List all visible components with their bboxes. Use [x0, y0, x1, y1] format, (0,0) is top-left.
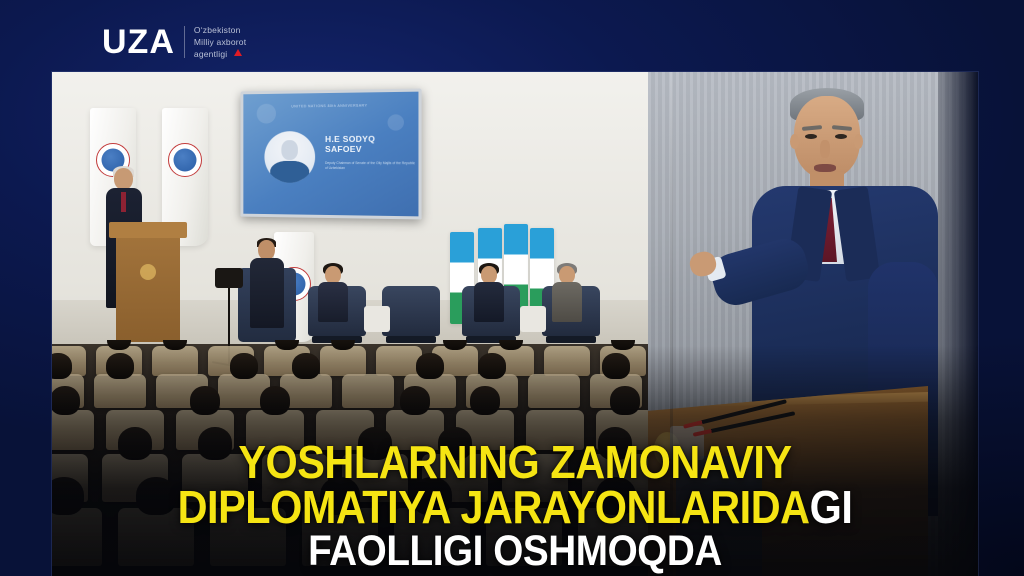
panelist — [318, 266, 348, 320]
seated-guest — [248, 240, 286, 332]
headline-line-1: YOSHLARNING ZAMONAVIY — [124, 440, 907, 484]
uza-logo[interactable]: UZA O‘zbekiston Milliy axborot agentligi — [102, 24, 246, 60]
uza-wordmark: UZA — [102, 25, 175, 59]
news-photo: UNITED NATIONS 80th ANNIVERSARY H.E SODY… — [52, 72, 978, 576]
side-table — [364, 306, 390, 332]
headline-line-2-yellow: DIPLOMATIYA JARAYONLARIDA — [178, 481, 810, 533]
logo-divider — [184, 26, 185, 58]
slide-name-line-2: SAFOEV — [325, 144, 418, 154]
screen-glow — [388, 114, 404, 130]
side-table — [520, 306, 546, 332]
screen-glow — [257, 104, 276, 124]
left-podium — [116, 222, 180, 342]
slide-portrait-icon — [264, 131, 315, 183]
slide-speaker-name: H.E SODYQ SAFOEV — [325, 135, 418, 154]
red-triangle-accent-icon — [234, 49, 242, 56]
tagline-line-2: Milliy axborot — [194, 36, 246, 48]
headline-block: YOSHLARNING ZAMONAVIY DIPLOMATIYA JARAYO… — [52, 440, 978, 572]
headline-line-2-white: GI — [810, 481, 853, 533]
slide-header-text: UNITED NATIONS 80th ANNIVERSARY — [291, 104, 367, 109]
panelist — [552, 266, 582, 320]
slide-speaker-role: Deputy Chairman of Senate of the Oliy Ma… — [325, 161, 418, 171]
presentation-screen: UNITED NATIONS 80th ANNIVERSARY H.E SODY… — [241, 89, 422, 220]
panel-armchair — [382, 286, 440, 336]
tagline-line-1: O‘zbekiston — [194, 24, 246, 36]
headline-line-3: FAOLLIGI OSHMOQDA — [124, 531, 907, 572]
panel-stage — [302, 222, 672, 348]
page-background: UZA O‘zbekiston Milliy axborot agentligi… — [0, 0, 1024, 576]
panelist — [474, 266, 504, 320]
headline-line-2: DIPLOMATIYA JARAYONLARIDAGI — [124, 485, 907, 529]
